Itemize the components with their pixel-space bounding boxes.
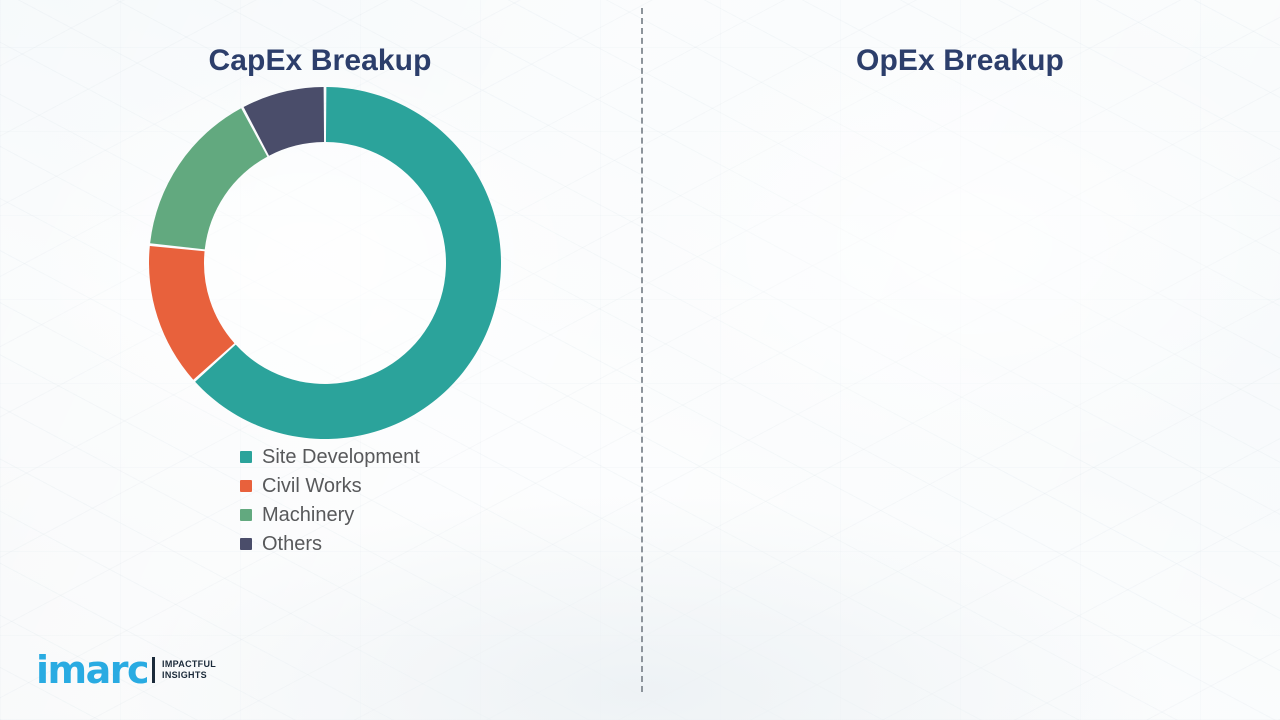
imarc-logo: imarc IMPACTFUL INSIGHTS [36, 652, 216, 688]
logo-tagline-line2: INSIGHTS [162, 670, 207, 680]
legend-label: Others [262, 534, 322, 554]
legend-swatch-icon [240, 480, 252, 492]
capex-donut-chart [149, 87, 501, 439]
donut-slice-machinery [150, 108, 267, 249]
logo-divider-bar [152, 657, 155, 683]
capex-slice-group [149, 87, 501, 439]
legend-swatch-icon [240, 538, 252, 550]
legend-item: Machinery [240, 505, 420, 525]
opex-title: OpEx Breakup [640, 44, 1280, 78]
legend-label: Machinery [262, 505, 354, 525]
capex-title: CapEx Breakup [0, 44, 640, 78]
legend-item: Civil Works [240, 476, 420, 496]
legend-item: Others [240, 534, 420, 554]
legend-label: Site Development [262, 447, 420, 467]
logo-wordmark: imarc [36, 652, 148, 688]
capex-legend: Site DevelopmentCivil WorksMachineryOthe… [240, 447, 420, 563]
logo-tagline-line1: IMPACTFUL [162, 659, 216, 669]
legend-swatch-icon [240, 451, 252, 463]
legend-swatch-icon [240, 509, 252, 521]
legend-label: Civil Works [262, 476, 362, 496]
legend-item: Site Development [240, 447, 420, 467]
capex-donut-svg [149, 87, 501, 439]
logo-tagline: IMPACTFUL INSIGHTS [162, 659, 216, 682]
opex-panel: OpEx Breakup Raw MaterialsSalaries and W… [640, 0, 1280, 720]
capex-panel: CapEx Breakup Site DevelopmentCivil Work… [0, 0, 640, 720]
